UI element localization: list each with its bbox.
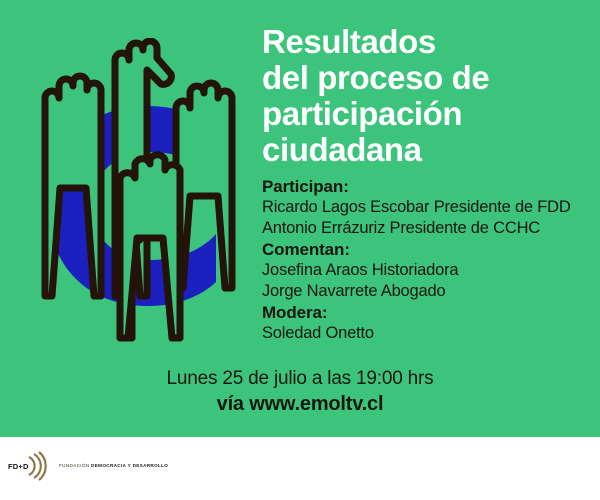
event-date-text: Lunes 25 de julio a las 19:00 hrs: [0, 366, 600, 391]
fdd-light-word: FUNDACIÓN: [59, 463, 91, 468]
credits-block: Participan: Ricardo Lagos Escobar Presid…: [262, 176, 592, 344]
svg-text:FD+D: FD+D: [8, 462, 29, 471]
credits-role-modera: Modera:: [262, 302, 592, 323]
credits-person-navarrete: Jorge Navarrete Abogado: [262, 281, 592, 302]
credits-person-lagos: Ricardo Lagos Escobar Presidente de FDD: [262, 197, 592, 218]
title-line-2: del proceso de: [262, 60, 592, 96]
logo-fundacion-democracia-desarrollo: FD+D FUNDACIÓN DEMOCRACIA Y DESARROLLO: [8, 451, 168, 481]
fdd-bold-word: DEMOCRACIA Y DESARROLLO: [91, 463, 168, 468]
credits-person-araos: Josefina Araos Historiadora: [262, 260, 592, 281]
text-content-column: Resultados del proceso de participación …: [262, 24, 592, 344]
title-line-3: participación: [262, 96, 592, 132]
title-line-1: Resultados: [262, 24, 592, 60]
footer-logo-bar: FD+D FUNDACIÓN DEMOCRACIA Y DESARROLLO: [0, 437, 600, 500]
credits-role-participan: Participan:: [262, 176, 592, 197]
fdd-monogram-icon: FD+D: [8, 451, 54, 481]
hands-group: [45, 41, 232, 338]
event-stream-url: vía www.emoltv.cl: [0, 391, 600, 418]
credits-role-comentan: Comentan:: [262, 239, 592, 260]
event-details-block: Lunes 25 de julio a las 19:00 hrs vía ww…: [0, 366, 600, 418]
poster-canvas: Resultados del proceso de participación …: [0, 0, 600, 500]
page-title: Resultados del proceso de participación …: [262, 24, 592, 168]
credits-person-onetto: Soledad Onetto: [262, 323, 592, 344]
title-line-4: ciudadana: [262, 132, 592, 168]
fdd-wordmark-text: FUNDACIÓN DEMOCRACIA Y DESARROLLO: [59, 463, 168, 469]
raised-hands-c-artwork: [8, 38, 258, 368]
credits-person-errazuriz: Antonio Errázuriz Presidente de CCHC: [262, 218, 592, 239]
